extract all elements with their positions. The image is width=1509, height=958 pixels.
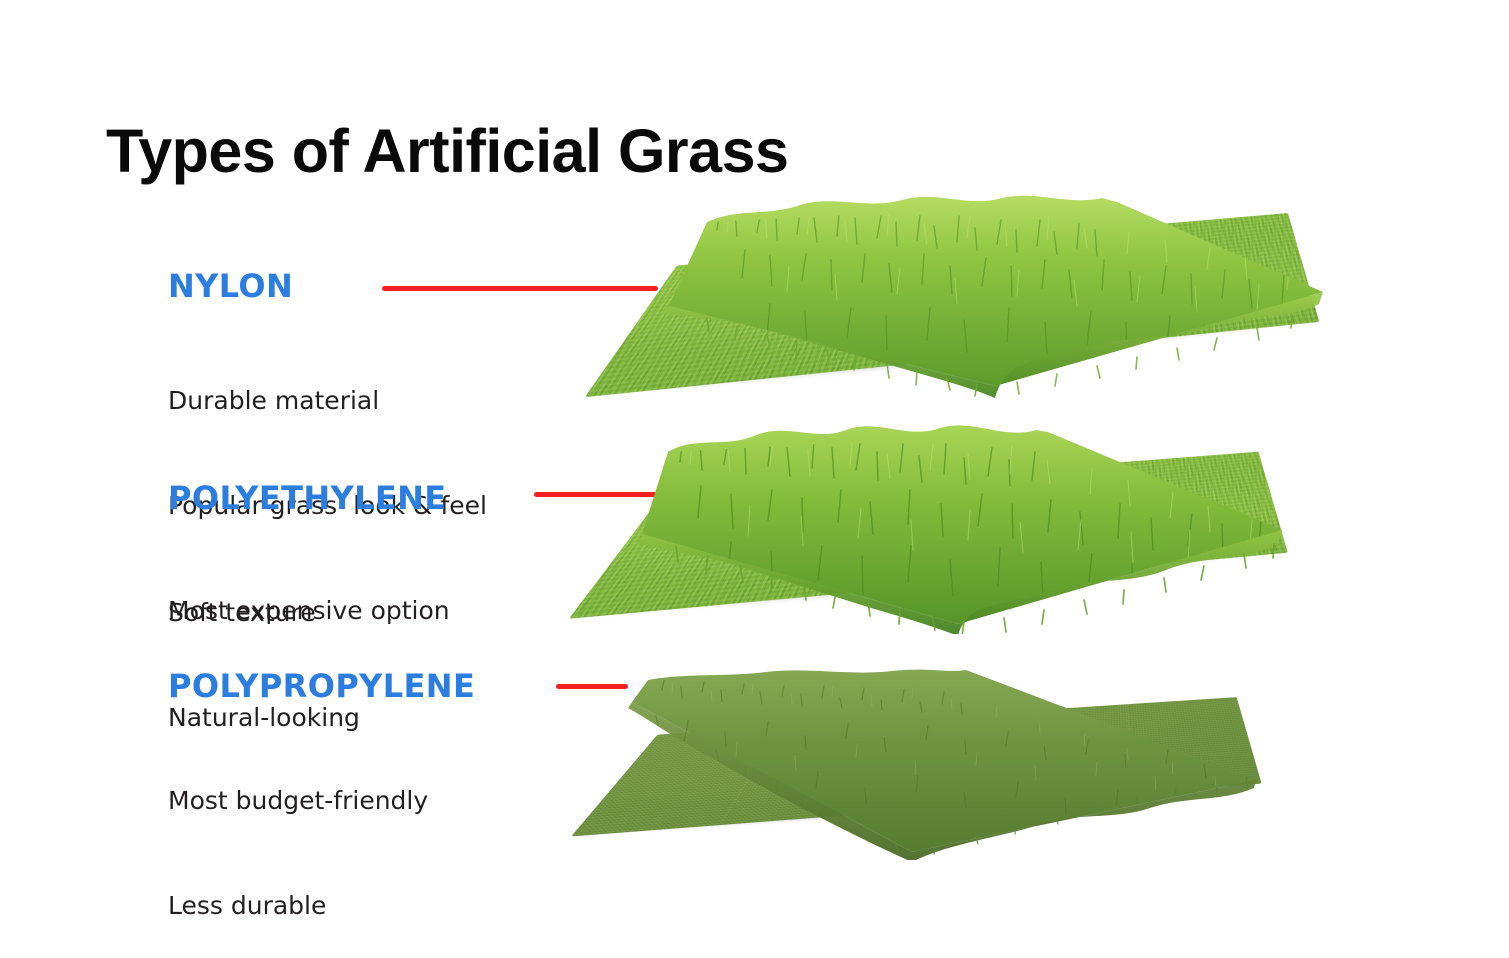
bullet-line: Less durable xyxy=(168,888,540,923)
section-heading-polyethylene: POLYETHYLENE xyxy=(168,480,447,516)
turf-texture xyxy=(571,697,1262,836)
slab-surface xyxy=(569,452,1288,619)
slab-surface xyxy=(585,213,1320,397)
slab-surface xyxy=(571,697,1262,836)
grass-sample-polyethylene xyxy=(569,452,1288,619)
slab-shadow xyxy=(598,547,1275,619)
grass-sample-nylon xyxy=(585,213,1320,397)
bullet-line: Most budget-friendly xyxy=(168,783,540,818)
connector-line-polyethylene xyxy=(534,492,664,497)
bullet-line: Soft texture xyxy=(168,595,447,630)
connector-line-polypropylene xyxy=(556,684,628,689)
slab-shadow xyxy=(599,778,1249,836)
turf-texture xyxy=(569,452,1288,619)
section-heading-polypropylene: POLYPROPYLENE xyxy=(168,668,540,704)
grass-sample-polypropylene xyxy=(571,697,1262,836)
connector-line-nylon xyxy=(382,286,658,291)
page-title: Types of Artificial Grass xyxy=(106,118,788,184)
infographic-canvas: Types of Artificial Grass NYLON Durable … xyxy=(0,0,1509,958)
section-polypropylene: POLYPROPYLENE Most budget-friendly Less … xyxy=(168,668,540,958)
section-body-polypropylene: Most budget-friendly Less durable Good c… xyxy=(168,713,540,958)
turf-texture xyxy=(585,213,1320,397)
slab-shadow xyxy=(615,316,1307,397)
bullet-line: Durable material xyxy=(168,383,487,418)
